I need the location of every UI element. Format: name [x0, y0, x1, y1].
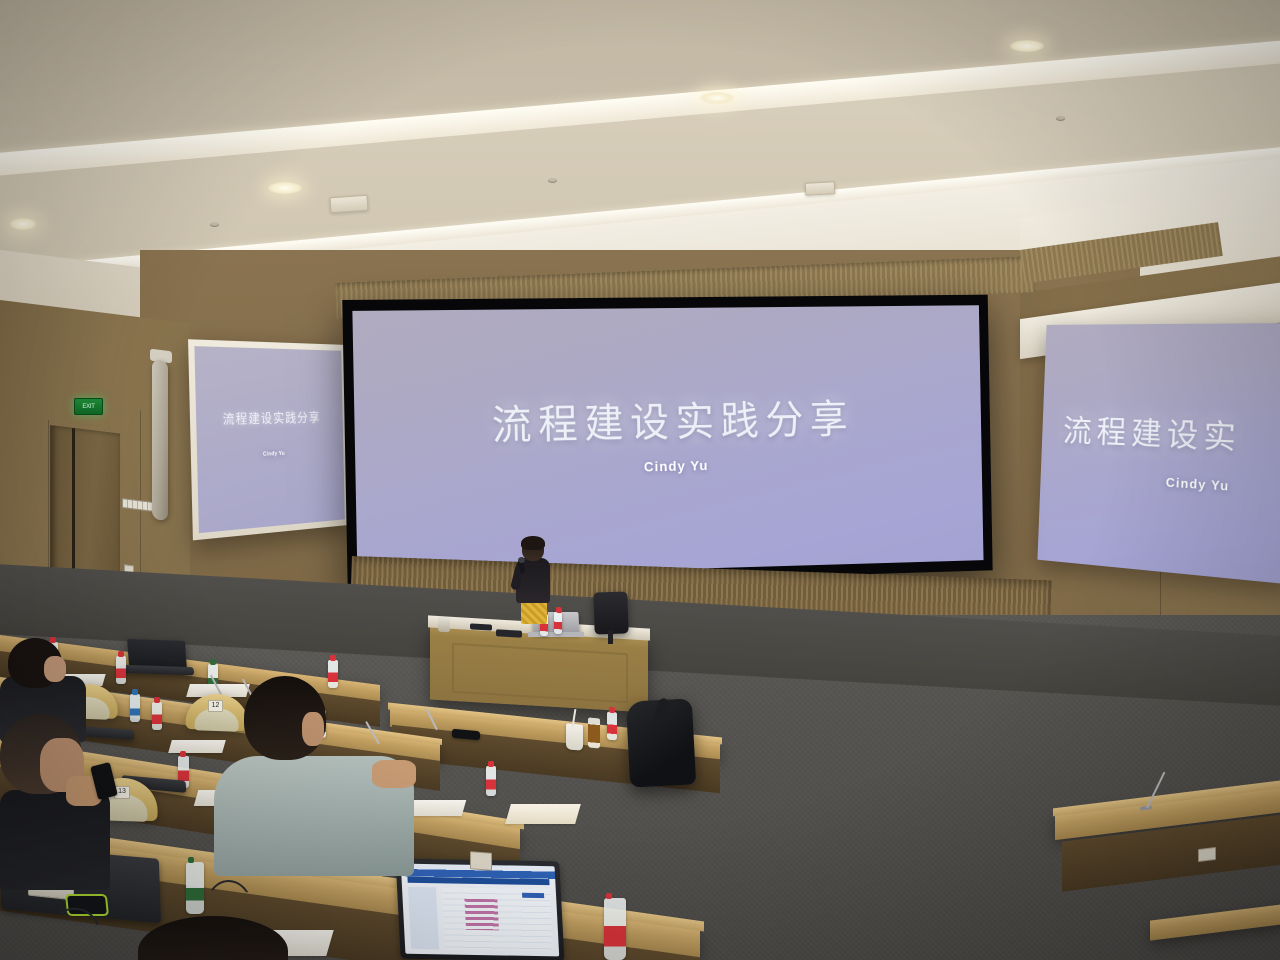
- desk-power-outlet-front[interactable]: [470, 851, 492, 871]
- left-screen-title: 流程建设实践分享: [196, 408, 343, 429]
- right-screen-subtitle: Cindy Yu: [1166, 475, 1280, 498]
- chair-number-plate-1: 12: [208, 700, 223, 712]
- ceiling-downlight-1: [268, 182, 302, 194]
- main-projection-screen: 流程建设实践分享 Cindy Yu: [342, 295, 992, 590]
- wall-speaker: [152, 359, 168, 521]
- microphone-head: [518, 557, 525, 563]
- drink-cup: [566, 723, 583, 750]
- exit-sign: EXIT: [74, 398, 103, 415]
- bottle-r2-b: [152, 702, 162, 730]
- bottle-r2-a: [130, 694, 140, 722]
- bottle-front-right: [604, 898, 626, 960]
- podium-bottle-2: [554, 612, 562, 634]
- bottle-front-green: [186, 862, 204, 914]
- ceiling-sprinkler-3: [1056, 116, 1065, 121]
- ceiling-air-vent-1: [329, 195, 368, 214]
- attendee-3-ear: [302, 712, 324, 746]
- podium-chair-stem: [608, 630, 613, 644]
- audience-laptop-open[interactable]: [395, 858, 564, 960]
- podium-phone[interactable]: [496, 629, 522, 637]
- presenter-hair: [521, 536, 545, 550]
- ceiling-sprinkler-1: [210, 222, 219, 227]
- paper-r2-a: [168, 740, 226, 753]
- slide-title: 流程建设实践分享: [354, 384, 981, 454]
- podium-remote[interactable]: [470, 623, 492, 630]
- podium-cup: [438, 617, 450, 633]
- left-screen-subtitle: Cindy Yu: [197, 449, 343, 462]
- right-projection-screen: 流程建设实 Cindy Yu: [1037, 323, 1280, 585]
- ceiling-downlight-3: [1010, 40, 1044, 52]
- front-desk-bottle: [607, 712, 617, 741]
- bottle-r1-d: [328, 660, 338, 688]
- podium-office-chair[interactable]: [593, 591, 628, 634]
- ceiling-sprinkler-2: [548, 178, 557, 183]
- ceiling-air-vent-2: [805, 181, 836, 196]
- tea-bottle: [588, 717, 600, 748]
- right-screen-title: 流程建设实: [1062, 405, 1280, 461]
- slide-subtitle: Cindy Yu: [355, 452, 982, 481]
- attendee-3-hand: [372, 760, 416, 788]
- bottle-r3-b: [486, 766, 496, 796]
- lecture-hall-photo: EXIT 流程建设实 Cindy Yu 流程建设实践分享 Cindy Yu 流程…: [0, 0, 1280, 960]
- left-projection-screen: 流程建设实践分享 Cindy Yu: [188, 339, 350, 540]
- ceiling-downlight-4: [10, 218, 36, 230]
- podium-front-panel: [452, 643, 628, 703]
- presentation-slide: 流程建设实践分享 Cindy Yu: [352, 305, 983, 578]
- ceiling-downlight-2: [700, 92, 734, 104]
- right-desk-power-outlet[interactable]: [1198, 847, 1216, 862]
- paper-r3-c: [505, 804, 581, 824]
- bottle-r1-b: [116, 656, 126, 684]
- attendee-1-face: [44, 656, 66, 682]
- exit-sign-label: EXIT: [82, 404, 94, 410]
